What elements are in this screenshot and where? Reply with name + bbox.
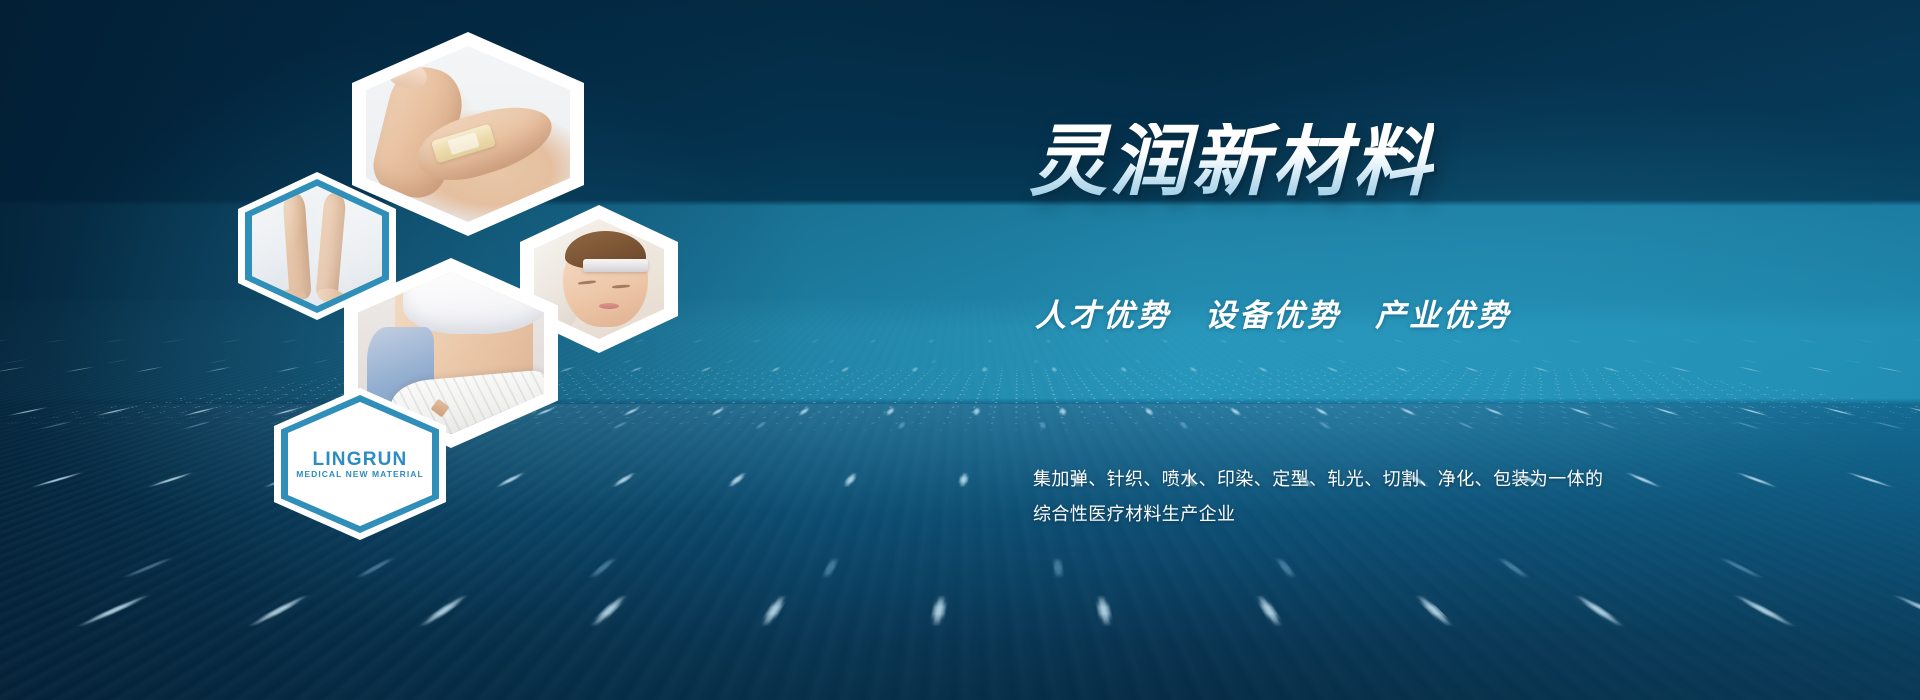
logo-plate: LINGRUN MEDICAL NEW MATERIAL <box>288 402 432 526</box>
hexagon-photo-cluster: LINGRUN MEDICAL NEW MATERIAL <box>0 0 720 700</box>
hex-compression-stockings-border <box>245 179 389 313</box>
hex-compression-stockings-photo <box>252 186 382 306</box>
photo-compression-stockings <box>252 186 382 306</box>
binder-tab <box>431 399 450 418</box>
logo-name: LINGRUN <box>313 450 408 469</box>
logo-tagline: MEDICAL NEW MATERIAL <box>296 470 423 479</box>
stocking-sheen <box>252 186 382 306</box>
hex-finger-bandage-photo <box>366 46 570 222</box>
hex-logo-border: LINGRUN MEDICAL NEW MATERIAL <box>281 395 439 533</box>
photo-finger-bandage <box>366 46 570 222</box>
baby-mouth <box>599 303 619 309</box>
hex-finger-bandage-border <box>359 39 577 229</box>
banner-headline: 灵润新材料 <box>1029 123 1434 201</box>
hex-logo-inner: LINGRUN MEDICAL NEW MATERIAL <box>288 402 432 526</box>
banner-text-block: 灵润新材料 人才优势 设备优势 产业优势 集加弹、针织、喷水、印染、定型、轧光、… <box>1015 0 1875 700</box>
hero-banner: LINGRUN MEDICAL NEW MATERIAL 灵润新材料 人才优势 … <box>0 0 1920 700</box>
company-logo: LINGRUN MEDICAL NEW MATERIAL <box>288 402 432 526</box>
banner-subheadline: 人才优势 设备优势 产业优势 <box>1035 290 1511 335</box>
forehead-patch <box>583 259 648 272</box>
banner-body-copy: 集加弹、针织、喷水、印染、定型、轧光、切割、净化、包装为一体的综合性医疗材料生产… <box>1033 462 1618 532</box>
